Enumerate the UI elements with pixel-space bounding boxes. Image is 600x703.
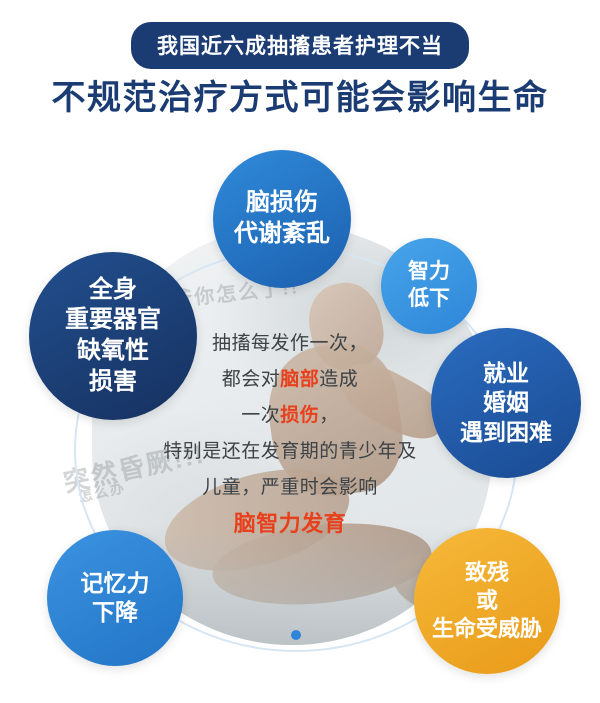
bubble-organ-hypoxia-line4: 损害 [65, 367, 161, 398]
center-line-2-highlight: 脑部 [280, 369, 319, 390]
center-line-5: 儿童，严重时会影响 [120, 470, 460, 506]
center-line-3-a: 一次 [241, 405, 280, 426]
center-line-2-c: 造成 [319, 369, 358, 390]
bubble-employment-marriage-line1: 就业 [460, 359, 552, 388]
bubble-memory-decline[interactable]: 记忆力 下降 [47, 530, 183, 666]
bubble-memory-decline-line2: 下降 [81, 598, 150, 627]
header-badge: 我国近六成抽搐患者护理不当 [131, 22, 469, 69]
diagram-stage: 大爷你怎么了!! 突然昏厥!!! 怎么办 抽搐每发作一次， 都会对脑部造成 一次… [0, 130, 600, 685]
bubble-organ-hypoxia-text: 全身 重要器官 缺氧性 损害 [65, 275, 161, 398]
bubble-brain-damage-text: 脑损伤 代谢紊乱 [234, 188, 330, 249]
bubble-disability-life-threat-line3: 生命受威胁 [432, 615, 542, 643]
center-line-2-a: 都会对 [222, 369, 281, 390]
bubble-disability-life-threat-text: 致残 或 生命受威胁 [432, 559, 542, 643]
bubble-low-intelligence-line2: 低下 [408, 286, 450, 313]
center-line-6: 脑智力发育 [120, 506, 460, 542]
ring-dot-icon [291, 630, 301, 640]
bubble-organ-hypoxia-line2: 重要器官 [65, 305, 161, 336]
bubble-organ-hypoxia-line1: 全身 [65, 275, 161, 306]
center-line-3-highlight: 损伤 [280, 405, 319, 426]
bubble-memory-decline-text: 记忆力 下降 [81, 569, 150, 628]
bubble-organ-hypoxia-line3: 缺氧性 [65, 336, 161, 367]
bubble-employment-marriage-text: 就业 婚姻 遇到困难 [460, 359, 552, 447]
bubble-memory-decline-line1: 记忆力 [81, 569, 150, 598]
center-line-4: 特别是还在发育期的青少年及 [120, 434, 460, 470]
center-line-3-c: ， [319, 405, 339, 426]
bubble-organ-hypoxia[interactable]: 全身 重要器官 缺氧性 损害 [29, 252, 197, 420]
page-title: 不规范治疗方式可能会影响生命 [52, 70, 549, 119]
bubble-brain-damage-line2: 代谢紊乱 [234, 219, 330, 250]
bubble-brain-damage-line1: 脑损伤 [234, 188, 330, 219]
bubble-low-intelligence-line1: 智力 [408, 259, 450, 286]
bubble-low-intelligence[interactable]: 智力 低下 [381, 238, 477, 334]
bubble-brain-damage[interactable]: 脑损伤 代谢紊乱 [213, 150, 351, 288]
bubble-employment-marriage[interactable]: 就业 婚姻 遇到困难 [431, 328, 581, 478]
bubble-low-intelligence-text: 智力 低下 [408, 259, 450, 313]
bubble-disability-life-threat[interactable]: 致残 或 生命受威胁 [414, 528, 560, 674]
bubble-disability-life-threat-line1: 致残 [432, 559, 542, 587]
center-line-3: 一次损伤， [120, 398, 460, 434]
bubble-employment-marriage-line3: 遇到困难 [460, 418, 552, 447]
bubble-disability-life-threat-line2: 或 [432, 587, 542, 615]
bubble-employment-marriage-line2: 婚姻 [460, 388, 552, 417]
header: 我国近六成抽搐患者护理不当 不规范治疗方式可能会影响生命 [0, 0, 600, 130]
